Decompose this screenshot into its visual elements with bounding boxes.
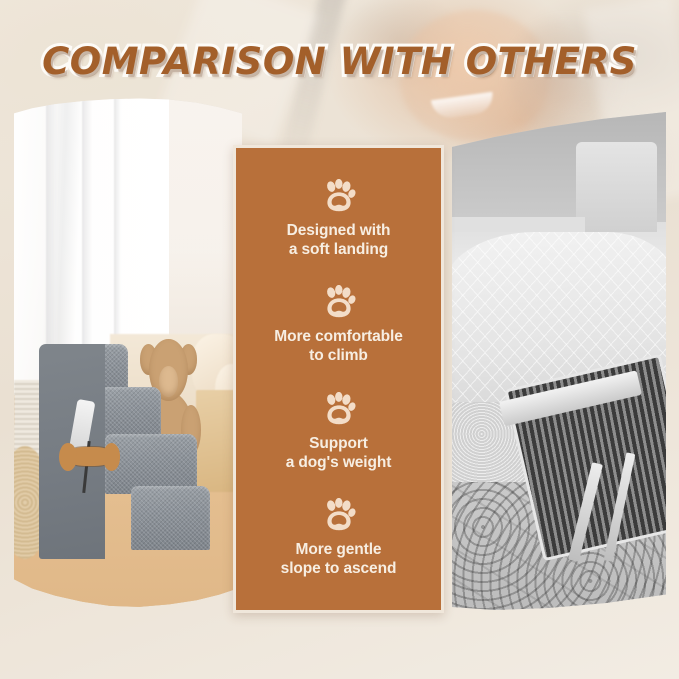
- comparison-poster: Designed with a soft landing More comfor…: [0, 0, 679, 679]
- paw-icon: [321, 392, 357, 426]
- feature-item: More gentle slope to ascend: [242, 498, 435, 579]
- right-product-photo: [452, 112, 666, 612]
- paw-icon: [321, 179, 357, 213]
- page-title-text: COMPARISON WITH OTHERS: [42, 40, 637, 83]
- left-product-photo: [14, 98, 242, 610]
- feature-item: Designed with a soft landing: [242, 179, 435, 260]
- paw-icon: [321, 498, 357, 532]
- baseboard: [452, 217, 585, 232]
- stair-step: [131, 486, 210, 551]
- bedroom-ramp-scene: [452, 112, 666, 612]
- page-title: COMPARISON WITH OTHERS: [0, 40, 679, 83]
- bedroom-scene: [14, 98, 242, 610]
- feature-item: More comfortable to climb: [242, 285, 435, 366]
- paw-icon: [321, 285, 357, 319]
- bone-shaped-tag: [65, 447, 114, 466]
- feature-label: More comfortable to climb: [274, 328, 402, 366]
- feature-label: Designed with a soft landing: [287, 222, 391, 260]
- feature-label: Support a dog's weight: [286, 435, 392, 473]
- feature-list-panel: Designed with a soft landing More comfor…: [233, 145, 444, 613]
- feature-label: More gentle slope to ascend: [281, 541, 397, 579]
- pet-stairs: [39, 344, 203, 559]
- feature-item: Support a dog's weight: [242, 392, 435, 473]
- nightstand: [576, 142, 657, 232]
